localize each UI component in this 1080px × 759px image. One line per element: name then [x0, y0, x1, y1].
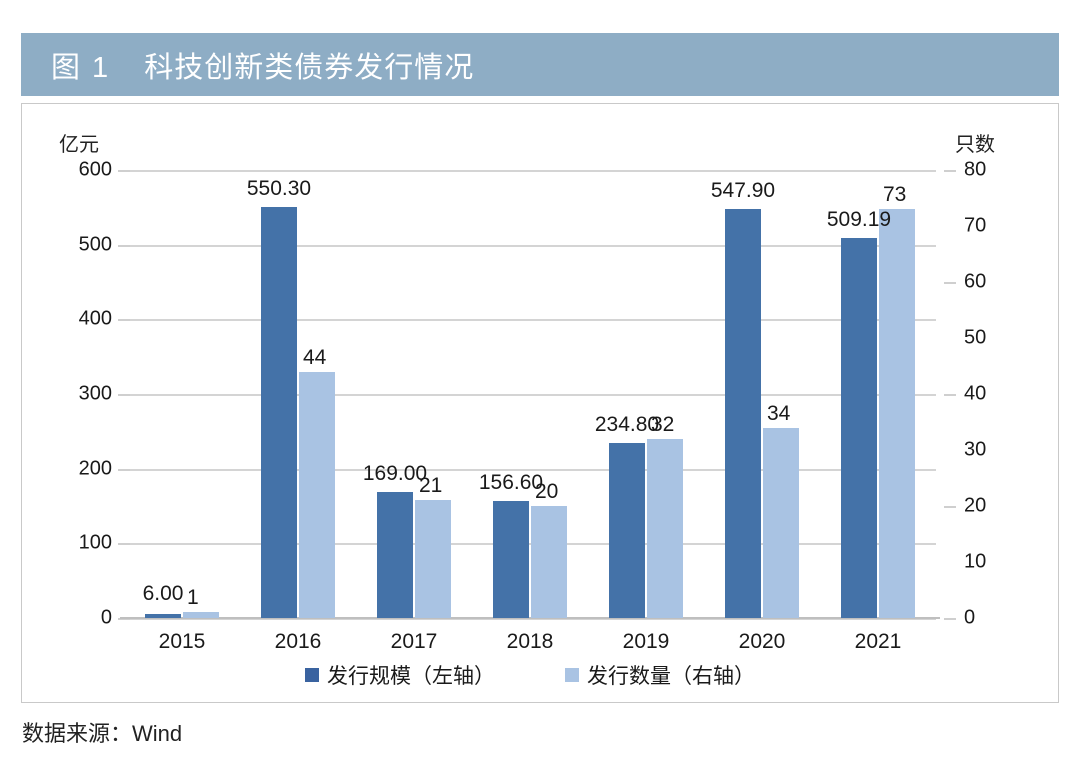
data-label-scale: 509.19	[799, 208, 919, 232]
left-axis-tick-label: 0	[42, 607, 112, 630]
bar-issuance-scale[interactable]	[725, 209, 761, 618]
right-axis-tick	[944, 506, 956, 508]
bar-issuance-count[interactable]	[183, 612, 219, 618]
left-axis-tick-label: 300	[42, 383, 112, 406]
bar-issuance-scale[interactable]	[493, 501, 529, 618]
bar-issuance-scale[interactable]	[145, 614, 181, 618]
gridline	[124, 543, 936, 545]
figure-number: 图 1	[51, 44, 110, 86]
data-label-count: 32	[651, 413, 674, 437]
left-axis-unit: 亿元	[59, 128, 99, 157]
chart-legend: 发行规模（左轴） 发行数量（右轴）	[124, 660, 936, 690]
plot-area: 6005004003002001000807060504030201006.00…	[124, 170, 936, 618]
right-axis-tick-label: 40	[964, 383, 1034, 406]
bar-issuance-count[interactable]	[879, 209, 915, 618]
right-axis-tick-label: 0	[964, 607, 1034, 630]
right-axis-tick	[944, 394, 956, 396]
x-axis-tick-label: 2018	[470, 630, 590, 654]
bar-issuance-scale[interactable]	[377, 492, 413, 618]
right-axis-tick-label: 70	[964, 215, 1034, 238]
x-axis-tick-label: 2021	[818, 630, 938, 654]
bar-issuance-count[interactable]	[415, 500, 451, 618]
data-label-count: 21	[419, 474, 442, 498]
x-axis-tick-label: 2019	[586, 630, 706, 654]
x-axis-line	[120, 617, 940, 619]
right-axis-tick	[944, 282, 956, 284]
legend-item-scale[interactable]: 发行规模（左轴）	[305, 660, 495, 690]
left-axis-tick-label: 500	[42, 233, 112, 256]
legend-swatch-icon	[565, 668, 579, 682]
bar-issuance-count[interactable]	[647, 439, 683, 618]
gridline	[124, 245, 936, 247]
right-axis-tick-label: 60	[964, 271, 1034, 294]
left-axis-tick-label: 200	[42, 457, 112, 480]
left-axis-tick-label: 400	[42, 308, 112, 331]
figure-container: 图 1 科技创新类债券发行情况 亿元 只数 600500400300200100…	[0, 0, 1080, 759]
left-axis-tick	[118, 245, 130, 247]
data-label-count: 1	[187, 586, 199, 610]
right-axis-tick-label: 80	[964, 159, 1034, 182]
bar-issuance-count[interactable]	[763, 428, 799, 618]
right-axis-tick	[944, 170, 956, 172]
right-axis-tick-label: 30	[964, 439, 1034, 462]
bar-issuance-count[interactable]	[531, 506, 567, 618]
right-axis-tick-label: 20	[964, 495, 1034, 518]
data-label-count: 20	[535, 480, 558, 504]
right-axis-tick-label: 10	[964, 551, 1034, 574]
data-label-scale: 550.30	[219, 177, 339, 201]
bar-issuance-count[interactable]	[299, 372, 335, 618]
figure-title: 科技创新类债券发行情况	[144, 44, 474, 86]
left-axis-tick-label: 600	[42, 159, 112, 182]
left-axis-tick-label: 100	[42, 532, 112, 555]
left-axis-tick	[118, 543, 130, 545]
data-label-count: 44	[303, 346, 326, 370]
right-axis-tick	[944, 618, 956, 620]
figure-header: 图 1 科技创新类债券发行情况	[21, 33, 1059, 96]
right-axis-tick-label: 50	[964, 327, 1034, 350]
left-axis-tick	[118, 319, 130, 321]
x-axis-tick-label: 2015	[122, 630, 242, 654]
data-label-scale: 6.00	[103, 582, 223, 606]
legend-swatch-icon	[305, 668, 319, 682]
gridline	[124, 170, 936, 172]
x-axis-tick-label: 2016	[238, 630, 358, 654]
bar-issuance-scale[interactable]	[841, 238, 877, 618]
left-axis-tick	[118, 170, 130, 172]
left-axis-tick	[118, 394, 130, 396]
legend-label-scale: 发行规模（左轴）	[327, 660, 495, 690]
gridline	[124, 319, 936, 321]
bar-issuance-scale[interactable]	[609, 443, 645, 618]
data-label-scale: 547.90	[683, 179, 803, 203]
legend-label-count: 发行数量（右轴）	[587, 660, 755, 690]
x-axis-tick-label: 2017	[354, 630, 474, 654]
legend-item-count[interactable]: 发行数量（右轴）	[565, 660, 755, 690]
source-note: 数据来源：Wind	[22, 716, 182, 748]
right-axis-unit: 只数	[955, 128, 995, 157]
bar-issuance-scale[interactable]	[261, 207, 297, 618]
data-label-count: 34	[767, 402, 790, 426]
gridline	[124, 394, 936, 396]
left-axis-tick	[118, 469, 130, 471]
x-axis-tick-label: 2020	[702, 630, 822, 654]
data-label-count: 73	[883, 183, 906, 207]
